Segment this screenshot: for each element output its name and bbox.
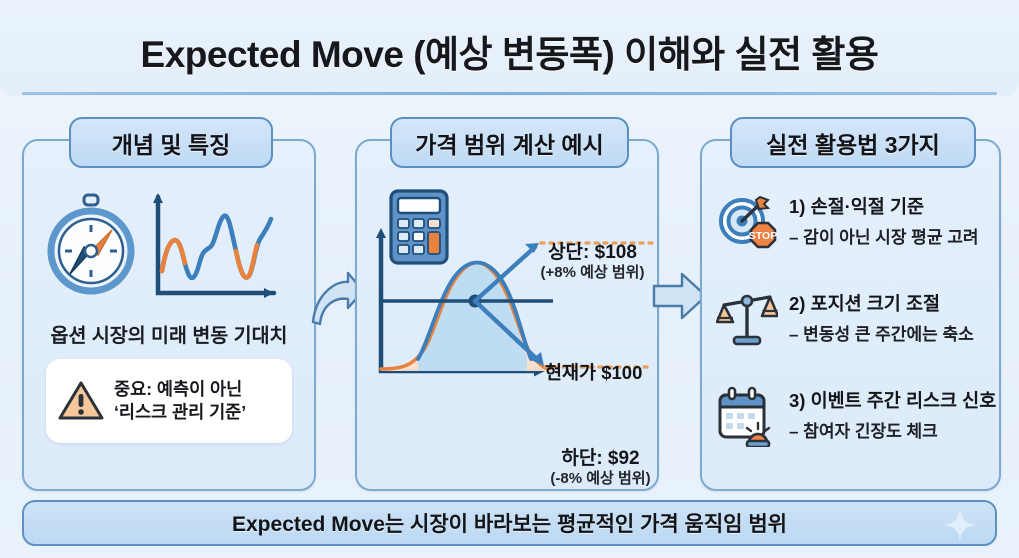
panel-concept: 개념 및 특징	[22, 139, 316, 491]
tip-item-position-size: 2) 포지션 크기 조절 – 변동성 큰 주간에는 축소	[716, 288, 974, 350]
tip-subtitle: – 참여자 긴장도 체크	[789, 417, 996, 442]
concept-caption: 옵션 시장의 미래 변동 기대치	[24, 319, 314, 348]
concept-warning-line1: 중요: 예측이 아닌	[114, 378, 246, 401]
tip-item-event-risk: 3) 이벤트 주간 리스크 신호 – 참여자 긴장도 체크	[716, 385, 996, 447]
upper-bound-sublabel: (+8% 예상 범위)	[520, 261, 665, 282]
tip-title: 3) 이벤트 주간 리스크 신호	[789, 387, 996, 413]
title-divider	[22, 92, 997, 95]
concept-icon-group	[38, 189, 300, 307]
warning-triangle-icon	[58, 380, 104, 422]
tip-subtitle: – 변동성 큰 주간에는 축소	[789, 320, 974, 345]
expected-move-chart: 상단: $108 (+8% 예상 범위) 현재가 $100 하단: $92 (-…	[363, 181, 655, 481]
panel-practical-use: 실전 활용법 3가지 STOP 1) 손절·익절 기준 – 감이 아닌 시장 평…	[700, 139, 1001, 491]
tip-item-stoploss-text: 1) 손절·익절 기준 – 감이 아닌 시장 평균 고려	[789, 191, 978, 248]
calculator-icon	[391, 191, 447, 263]
target-stop-icon: STOP	[716, 191, 778, 253]
calendar-siren-icon	[716, 385, 778, 447]
svg-text:STOP: STOP	[749, 230, 777, 242]
lower-bound-sublabel: (-8% 예상 범위)	[528, 467, 673, 488]
footer-summary-text: Expected Move는 시장이 바라보는 평균적인 가격 움직임 범위	[232, 508, 787, 538]
panel-calculation-header: 가격 범위 계산 예시	[390, 117, 629, 168]
balance-scales-icon	[716, 288, 778, 350]
current-price-label: 현재가 $100	[545, 359, 670, 385]
tip-item-stoploss: STOP 1) 손절·익절 기준 – 감이 아닌 시장 평균 고려	[716, 191, 978, 253]
tip-item-position-size-text: 2) 포지션 크기 조절 – 변동성 큰 주간에는 축소	[789, 288, 974, 345]
concept-warning-line2: ‘리스크 관리 기준’	[114, 401, 246, 424]
tip-title: 1) 손절·익절 기준	[789, 193, 978, 219]
concept-warning-card: 중요: 예측이 아닌 ‘리스크 관리 기준’	[46, 359, 292, 443]
lower-bound-label: 하단: $92	[538, 443, 663, 470]
compass-icon	[51, 195, 131, 291]
panel-practical-use-header: 실전 활용법 3가지	[730, 117, 976, 168]
compass-and-chart-svg	[38, 189, 300, 307]
header-bar: Expected Move (예상 변동폭) 이해와 실전 활용	[0, 0, 1019, 96]
tip-item-event-risk-text: 3) 이벤트 주간 리스크 신호 – 참여자 긴장도 체크	[789, 385, 996, 442]
volatility-line-chart-icon	[153, 193, 274, 298]
footer-summary-bar: Expected Move는 시장이 바라보는 평균적인 가격 움직임 범위	[22, 500, 997, 546]
tip-subtitle: – 감이 아닌 시장 평균 고려	[789, 223, 978, 248]
sparkle-icon	[943, 508, 977, 542]
tip-title: 2) 포지션 크기 조절	[789, 290, 974, 316]
infographic-canvas: Expected Move (예상 변동폭) 이해와 실전 활용 개념 및 특징	[0, 0, 1019, 558]
page-title: Expected Move (예상 변동폭) 이해와 실전 활용	[0, 24, 1019, 78]
concept-warning-text: 중요: 예측이 아닌 ‘리스크 관리 기준’	[114, 378, 246, 425]
panel-calculation: 가격 범위 계산 예시	[355, 139, 659, 491]
bell-curve-distribution-svg	[363, 181, 655, 481]
panel-concept-header: 개념 및 특징	[69, 117, 273, 168]
upper-bound-label: 상단: $108	[525, 237, 660, 264]
